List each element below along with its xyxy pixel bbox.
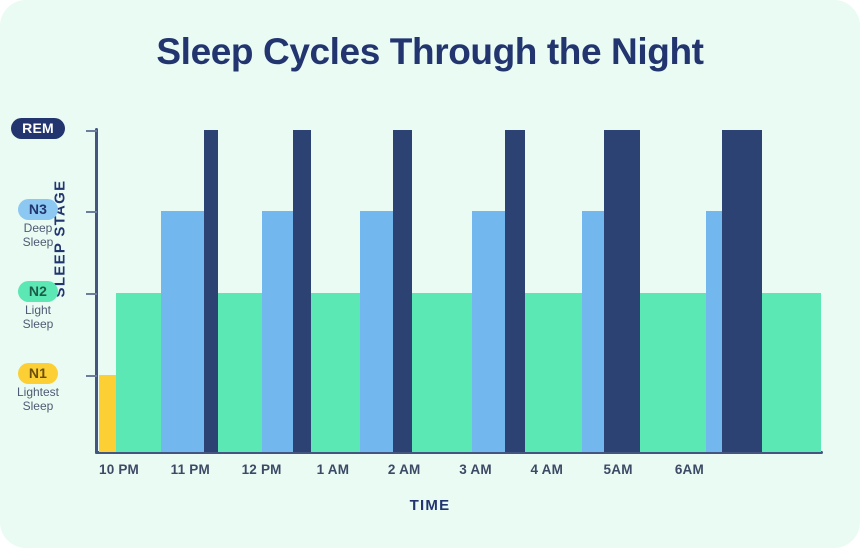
x-tick-label-0: 10 PM — [79, 462, 159, 477]
x-tick-label-8: 6AM — [649, 462, 729, 477]
x-tick-label-6: 4 AM — [507, 462, 587, 477]
y-tick-n3 — [86, 211, 97, 213]
x-tick-label-1: 11 PM — [150, 462, 230, 477]
y-axis-line — [95, 128, 98, 454]
stage-badge-n2: N2 — [18, 281, 58, 302]
sleep-chart-card: Sleep Cycles Through the Night SLEEP STA… — [0, 0, 860, 548]
y-axis-label-n1: N1Lightest Sleep — [0, 363, 84, 413]
bar-n2 — [412, 293, 472, 452]
page-title: Sleep Cycles Through the Night — [0, 31, 860, 73]
bar-rem — [604, 130, 640, 452]
y-axis-label-n2: N2Light Sleep — [0, 281, 84, 331]
y-tick-n1 — [86, 375, 97, 377]
y-axis-label-rem: REM — [0, 118, 84, 139]
bar-n3 — [582, 211, 604, 452]
bar-n3 — [706, 211, 722, 452]
bar-n2 — [762, 293, 821, 452]
bar-n1 — [99, 375, 116, 452]
bar-rem — [293, 130, 311, 452]
y-tick-rem — [86, 130, 97, 132]
bar-n2 — [640, 293, 706, 452]
stage-sublabel-n2: Light Sleep — [0, 303, 84, 331]
x-axis-title: TIME — [0, 497, 860, 514]
bar-rem — [722, 130, 762, 452]
bar-n3 — [161, 211, 204, 452]
x-tick-label-4: 2 AM — [364, 462, 444, 477]
bar-n2 — [218, 293, 262, 452]
bar-n3 — [472, 211, 505, 452]
bar-n3 — [360, 211, 393, 452]
plot-area — [99, 130, 821, 452]
x-tick-label-5: 3 AM — [436, 462, 516, 477]
stage-badge-rem: REM — [11, 118, 65, 139]
bar-n2 — [525, 293, 582, 452]
x-tick-label-3: 1 AM — [293, 462, 373, 477]
stage-badge-n3: N3 — [18, 199, 58, 220]
bar-n2 — [311, 293, 360, 452]
x-tick-label-2: 12 PM — [222, 462, 302, 477]
bar-rem — [393, 130, 412, 452]
y-axis-label-n3: N3Deep Sleep — [0, 199, 84, 249]
stage-sublabel-n1: Lightest Sleep — [0, 385, 84, 413]
x-tick-label-7: 5AM — [578, 462, 658, 477]
bar-rem — [505, 130, 525, 452]
y-tick-n2 — [86, 293, 97, 295]
bar-n2 — [116, 293, 161, 452]
bar-n3 — [262, 211, 293, 452]
stage-badge-n1: N1 — [18, 363, 58, 384]
stage-sublabel-n3: Deep Sleep — [0, 221, 84, 249]
bar-rem — [204, 130, 218, 452]
